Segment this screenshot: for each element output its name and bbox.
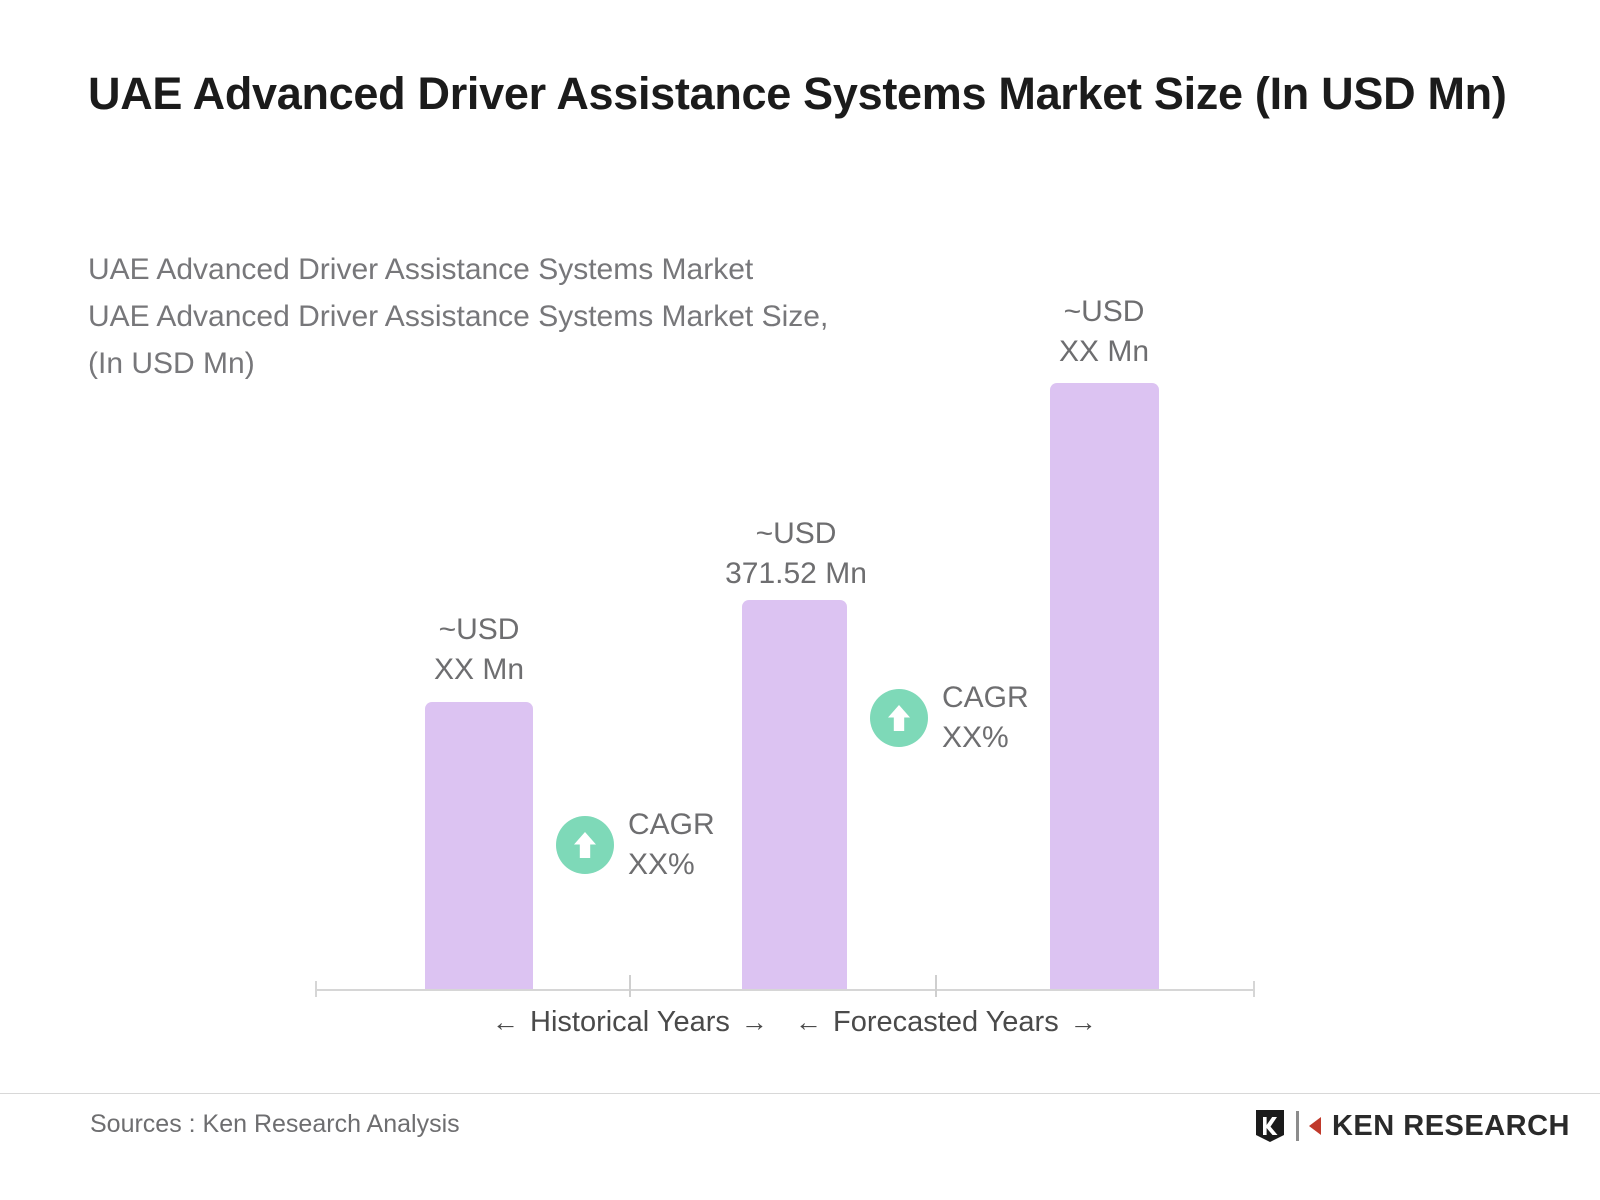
arrow-left-icon: ← <box>492 1009 519 1036</box>
cagr-badge-2-line2: XX% <box>942 721 1009 754</box>
bar-value-label-2-line1: ~USD <box>756 517 837 550</box>
ken-research-wordmark: KEN RESEARCH <box>1332 1110 1570 1143</box>
arrow-right-icon: → <box>1070 1009 1097 1036</box>
x-axis-tick-1 <box>629 975 631 997</box>
bar-value-label-3: ~USD XX Mn <box>1004 292 1204 371</box>
cagr-badge-2-text: CAGR XX% <box>942 678 1029 757</box>
x-axis-line <box>315 989 1255 991</box>
ken-research-logo-mark <box>1253 1109 1287 1143</box>
bar-value-label-3-line2: XX Mn <box>1059 335 1149 368</box>
bar-value-label-2-line2: 371.52 Mn <box>725 557 867 590</box>
bar-value-label-1: ~USD XX Mn <box>379 610 579 689</box>
bar-value-label-1-line1: ~USD <box>439 613 520 646</box>
x-axis-left-cap <box>315 981 317 997</box>
cagr-badge-2-line1: CAGR <box>942 681 1029 714</box>
axis-group-historical: ← Historical Years → <box>492 1006 768 1039</box>
bar-historical-year[interactable] <box>425 702 533 990</box>
bar-forecasted-year[interactable] <box>1050 383 1159 990</box>
sources-label: Sources : Ken Research Analysis <box>90 1110 460 1139</box>
axis-group-forecasted-label: Forecasted Years <box>833 1006 1059 1039</box>
red-triangle-icon <box>1308 1115 1328 1137</box>
bar-chart-plot-area: ~USD XX Mn ~USD 371.52 Mn ~USD XX Mn CAG… <box>0 0 1600 1200</box>
axis-group-historical-label: Historical Years <box>530 1006 730 1039</box>
arrow-up-icon <box>870 689 928 747</box>
x-axis-right-cap <box>1253 981 1255 997</box>
cagr-badge-1[interactable]: CAGR XX% <box>556 805 715 884</box>
cagr-badge-1-line1: CAGR <box>628 808 715 841</box>
ken-research-logo: KEN RESEARCH <box>1253 1109 1570 1143</box>
axis-group-forecasted: ← Forecasted Years → <box>795 1006 1097 1039</box>
arrow-left-icon: ← <box>795 1009 822 1036</box>
slide-canvas: UAE Advanced Driver Assistance Systems M… <box>0 0 1600 1200</box>
bar-value-label-1-line2: XX Mn <box>434 653 524 686</box>
bar-value-label-3-line1: ~USD <box>1064 295 1145 328</box>
x-axis-tick-2 <box>935 975 937 997</box>
bar-base-year[interactable] <box>742 600 847 990</box>
logo-separator <box>1296 1111 1299 1141</box>
footer-divider <box>0 1093 1600 1094</box>
cagr-badge-2[interactable]: CAGR XX% <box>870 678 1029 757</box>
bar-value-label-2: ~USD 371.52 Mn <box>686 514 906 593</box>
arrow-up-icon <box>556 816 614 874</box>
cagr-badge-1-line2: XX% <box>628 848 695 881</box>
ken-research-logo-text: KEN RESEARCH <box>1308 1110 1570 1143</box>
cagr-badge-1-text: CAGR XX% <box>628 805 715 884</box>
arrow-right-icon: → <box>741 1009 768 1036</box>
